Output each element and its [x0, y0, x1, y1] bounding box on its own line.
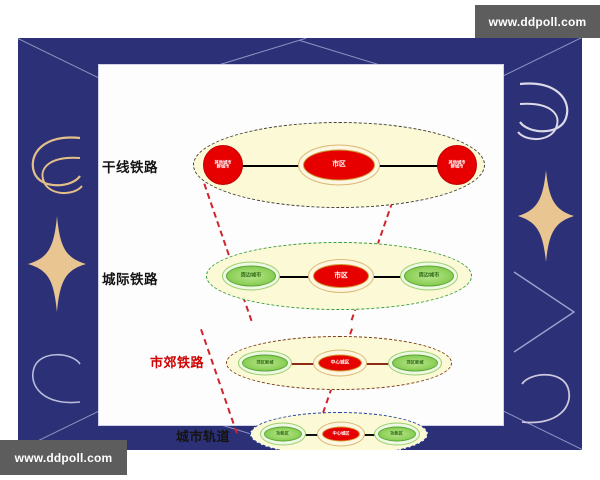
node-suburban-center[interactable]: 中心城区 — [318, 355, 362, 372]
slide-frame: 干线铁路 其他城市 群城市 市区 其他城市 群城市 城际铁路 — [18, 38, 582, 450]
node-intercity-right-label: 周边城市 — [419, 273, 439, 278]
node-urban-right-label: 功能区 — [391, 432, 404, 436]
node-intercity-left[interactable]: 周边城市 — [226, 266, 276, 287]
ornament-swirl-right — [510, 70, 576, 166]
node-trunk-right[interactable]: 其他城市 群城市 — [437, 145, 477, 185]
node-trunk-left-label: 其他城市 群城市 — [214, 161, 231, 170]
band-intercity: 周边城市 市区 周边城市 — [206, 242, 472, 310]
node-suburban-right[interactable]: 郊区新城 — [392, 355, 438, 372]
ornament-star-right — [516, 168, 576, 264]
node-urban-right[interactable]: 功能区 — [378, 427, 416, 442]
watermark-bottom: www.ddpoll.com — [0, 440, 127, 475]
node-urban-left[interactable]: 功能区 — [264, 427, 302, 442]
railway-hierarchy-diagram: 干线铁路 其他城市 群城市 市区 其他城市 群城市 城际铁路 — [98, 64, 502, 424]
node-intercity-left-label: 周边城市 — [241, 273, 261, 278]
watermark-top-text: www.ddpoll.com — [489, 15, 587, 29]
band-urban-transit: 功能区 中心城区 功能区 — [250, 412, 428, 450]
node-urban-center-label: 中心城区 — [332, 432, 349, 436]
node-trunk-left[interactable]: 其他城市 群城市 — [203, 145, 243, 185]
watermark-bottom-text: www.ddpoll.com — [15, 451, 113, 465]
node-intercity-right[interactable]: 周边城市 — [404, 266, 454, 287]
node-urban-left-label: 功能区 — [277, 432, 290, 436]
node-trunk-right-label: 其他城市 群城市 — [448, 161, 465, 170]
node-suburban-left[interactable]: 郊区新城 — [242, 355, 288, 372]
watermark-top: www.ddpoll.com — [475, 5, 600, 38]
node-trunk-center-label: 市区 — [332, 161, 346, 168]
row-label-suburban: 市郊铁路 — [150, 352, 204, 371]
screenshot-canvas: 干线铁路 其他城市 群城市 市区 其他城市 群城市 城际铁路 — [0, 0, 600, 480]
row-label-trunk: 干线铁路 — [102, 156, 158, 176]
frame-bevel-top-center-left — [220, 38, 306, 65]
ornament-star-left — [26, 214, 88, 314]
row-label-urban-transit: 城市轨道 — [176, 426, 230, 445]
node-suburban-center-label: 中心城区 — [331, 361, 350, 366]
row-label-intercity: 城际铁路 — [102, 268, 158, 288]
band-trunk: 其他城市 群城市 市区 其他城市 群城市 — [193, 122, 485, 208]
node-urban-center[interactable]: 中心城区 — [322, 427, 360, 442]
node-suburban-right-label: 郊区新城 — [406, 361, 423, 365]
ornament-swirl-left — [24, 128, 88, 220]
node-suburban-left-label: 郊区新城 — [256, 361, 273, 365]
ornament-swirl-right-lower — [514, 338, 578, 434]
node-intercity-center-label: 市区 — [334, 272, 348, 279]
node-intercity-center[interactable]: 市区 — [313, 264, 369, 288]
node-trunk-center[interactable]: 市区 — [303, 150, 375, 181]
band-suburban: 郊区新城 中心城区 郊区新城 — [226, 336, 452, 390]
ornament-swirl-left-lower — [24, 320, 88, 412]
